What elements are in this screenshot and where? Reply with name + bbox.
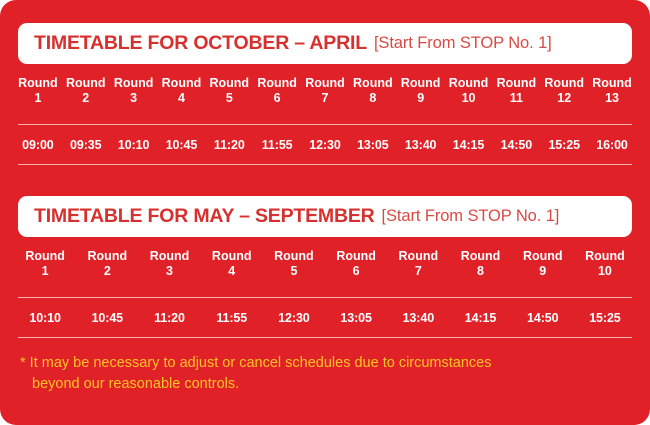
timetable-title-may-september: TIMETABLE FOR MAY – SEPTEMBER	[34, 205, 375, 228]
time-cell: 10:45	[158, 138, 206, 152]
round-label: Round	[110, 76, 158, 91]
round-label: Round	[397, 76, 445, 91]
round-header-cell: Round 9	[397, 76, 445, 106]
round-header-cell: Round 9	[512, 249, 574, 279]
round-label: Round	[574, 249, 636, 264]
time-cell: 13:40	[387, 311, 449, 325]
round-number: 4	[158, 91, 206, 106]
round-number: 4	[201, 264, 263, 279]
timetable-title-bar-october-april: TIMETABLE FOR OCTOBER – APRIL [Start Fro…	[18, 23, 632, 64]
round-label: Round	[301, 76, 349, 91]
time-cell: 15:25	[540, 138, 588, 152]
round-number: 5	[205, 91, 253, 106]
time-cell: 11:55	[253, 138, 301, 152]
time-cell: 10:10	[110, 138, 158, 152]
round-number: 7	[301, 91, 349, 106]
divider-rule	[18, 337, 632, 338]
time-cell: 09:00	[14, 138, 62, 152]
round-header-cell: Round 3	[138, 249, 200, 279]
round-header-cell: Round 7	[387, 249, 449, 279]
round-header-cell: Round 2	[76, 249, 138, 279]
round-header-cell: Round 1	[14, 249, 76, 279]
round-number: 10	[574, 264, 636, 279]
divider-rule	[18, 164, 632, 165]
round-header-cell: Round 6	[253, 76, 301, 106]
round-label: Round	[76, 249, 138, 264]
time-cell: 13:40	[397, 138, 445, 152]
round-label: Round	[14, 76, 62, 91]
round-number: 13	[588, 91, 636, 106]
round-label: Round	[325, 249, 387, 264]
round-header-cell: Round 10	[574, 249, 636, 279]
round-label: Round	[492, 76, 540, 91]
round-number: 9	[397, 91, 445, 106]
round-number: 12	[540, 91, 588, 106]
time-cell: 11:20	[205, 138, 253, 152]
round-header-cell: Round 10	[445, 76, 493, 106]
round-label: Round	[201, 249, 263, 264]
round-header-cell: Round 5	[263, 249, 325, 279]
round-header-cell: Round 6	[325, 249, 387, 279]
round-label: Round	[14, 249, 76, 264]
round-header-cell: Round 8	[449, 249, 511, 279]
round-label: Round	[588, 76, 636, 91]
times-row-may-september: 10:10 10:45 11:20 11:55 12:30 13:05 13:4…	[14, 299, 636, 337]
round-header-cell: Round 4	[201, 249, 263, 279]
timetable-title-bar-may-september: TIMETABLE FOR MAY – SEPTEMBER [Start Fro…	[18, 196, 632, 237]
time-cell: 14:15	[445, 138, 493, 152]
time-cell: 12:30	[301, 138, 349, 152]
time-cell: 14:15	[449, 311, 511, 325]
round-number: 10	[445, 91, 493, 106]
round-header-cell: Round 7	[301, 76, 349, 106]
round-number: 2	[76, 264, 138, 279]
round-header-cell: Round 2	[62, 76, 110, 106]
time-cell: 10:45	[76, 311, 138, 325]
round-number: 3	[138, 264, 200, 279]
round-label: Round	[62, 76, 110, 91]
time-cell: 14:50	[512, 311, 574, 325]
time-cell: 13:05	[349, 138, 397, 152]
round-header-cell: Round 3	[110, 76, 158, 106]
round-number: 6	[325, 264, 387, 279]
footnote-line-2: beyond our reasonable controls.	[20, 374, 620, 395]
time-cell: 09:35	[62, 138, 110, 152]
time-cell: 15:25	[574, 311, 636, 325]
timetable-subtitle-october-april: [Start From STOP No. 1]	[374, 34, 552, 53]
round-number: 8	[349, 91, 397, 106]
timetable-title-october-april: TIMETABLE FOR OCTOBER – APRIL	[34, 32, 367, 55]
round-header-cell: Round 4	[158, 76, 206, 106]
rounds-header-row-may-september: Round 1 Round 2 Round 3 Round 4 Round 5 …	[14, 249, 636, 279]
time-cell: 14:50	[492, 138, 540, 152]
round-number: 2	[62, 91, 110, 106]
round-number: 8	[449, 264, 511, 279]
timetable-poster: TIMETABLE FOR OCTOBER – APRIL [Start Fro…	[0, 0, 650, 425]
divider-rule	[18, 124, 632, 125]
footnote-line-1: * It may be necessary to adjust or cance…	[20, 353, 620, 374]
time-cell: 11:55	[201, 311, 263, 325]
round-number: 5	[263, 264, 325, 279]
round-number: 6	[253, 91, 301, 106]
round-label: Round	[445, 76, 493, 91]
round-header-cell: Round 13	[588, 76, 636, 106]
timetable-subtitle-may-september: [Start From STOP No. 1]	[382, 207, 560, 226]
round-number: 1	[14, 91, 62, 106]
round-header-cell: Round 12	[540, 76, 588, 106]
round-label: Round	[205, 76, 253, 91]
time-cell: 10:10	[14, 311, 76, 325]
round-label: Round	[349, 76, 397, 91]
round-header-cell: Round 1	[14, 76, 62, 106]
round-header-cell: Round 8	[349, 76, 397, 106]
round-label: Round	[512, 249, 574, 264]
round-label: Round	[263, 249, 325, 264]
round-label: Round	[158, 76, 206, 91]
round-label: Round	[138, 249, 200, 264]
round-label: Round	[253, 76, 301, 91]
round-header-cell: Round 11	[492, 76, 540, 106]
round-label: Round	[387, 249, 449, 264]
round-label: Round	[540, 76, 588, 91]
time-cell: 16:00	[588, 138, 636, 152]
time-cell: 11:20	[138, 311, 200, 325]
divider-rule	[18, 297, 632, 298]
round-number: 9	[512, 264, 574, 279]
rounds-header-row-october-april: Round 1 Round 2 Round 3 Round 4 Round 5 …	[14, 76, 636, 106]
round-label: Round	[449, 249, 511, 264]
round-number: 3	[110, 91, 158, 106]
round-number: 7	[387, 264, 449, 279]
round-number: 11	[492, 91, 540, 106]
footnote: * It may be necessary to adjust or cance…	[20, 353, 620, 395]
times-row-october-april: 09:00 09:35 10:10 10:45 11:20 11:55 12:3…	[14, 126, 636, 164]
time-cell: 12:30	[263, 311, 325, 325]
round-number: 1	[14, 264, 76, 279]
time-cell: 13:05	[325, 311, 387, 325]
round-header-cell: Round 5	[205, 76, 253, 106]
